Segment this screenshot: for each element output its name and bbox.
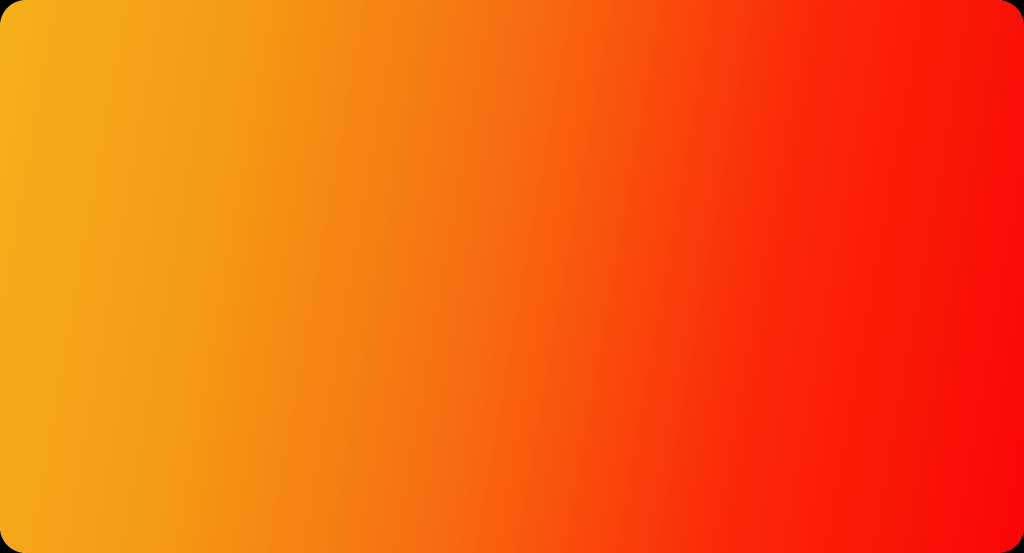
event-edition-label: AI EDITION: [62, 254, 393, 301]
title-line-1: CONGRESSO: [458, 170, 870, 212]
desc-underlined: uso estratégico de IA: [490, 362, 713, 389]
from-row: ➤ de: Gestor: [55, 363, 202, 395]
sold-label: VENDIDOS: [104, 529, 196, 549]
from-label: de:: [94, 373, 118, 393]
event-acronym: CNGT: [58, 166, 393, 250]
event-full-title: CONGRESSO NACIONAL DE GESTÃO DE TRÁFEGO.: [458, 170, 870, 297]
seats-stats-card: Vagas TOTAL 195/200 VENDIDOS: [0, 453, 330, 553]
cta-text: Restam apenas 5 Vagas: [368, 479, 771, 521]
date-location-badge: 1.11 NOV ALPHAVILLE - SP: [819, 0, 1003, 72]
gradient-divider: [22, 341, 1002, 343]
promo-banner: 1.11 NOV ALPHAVILLE - SP CNGT AI EDITION…: [0, 0, 1024, 553]
description-text: Imersão 100% focada no uso estratégico d…: [218, 360, 978, 427]
badge-date: 1.11 NOV: [834, 6, 989, 38]
seats-label: Vagas: [30, 488, 98, 516]
badge-location: ALPHAVILLE - SP: [834, 35, 988, 59]
to-row: ➤ para: Gestor.: [55, 395, 202, 427]
title-line-2: NACIONAL DE GESTÃO: [458, 212, 870, 254]
description-block: ➤ de: Gestor ➤ para: Gestor. Imersão 100…: [55, 360, 978, 427]
from-value: Gestor: [124, 363, 202, 395]
chevron-right-icon: ➤: [75, 372, 88, 391]
bottom-bar: Restam apenas 5 Vagas Vagas TOTAL 195/20…: [0, 453, 1024, 553]
audience-from-to: ➤ de: Gestor ➤ para: Gestor.: [55, 360, 202, 427]
title-line-3: DE TRÁFEGO.: [458, 254, 870, 296]
arrow-up-right-icon: [912, 483, 954, 525]
to-label: para:: [74, 405, 113, 425]
desc-before: Imersão 100% focada no: [218, 362, 490, 389]
event-logo-block: CNGT AI EDITION: [58, 166, 393, 301]
chevron-right-icon: ➤: [55, 404, 68, 423]
seats-count: 195/200: [100, 471, 274, 532]
to-value: Gestor.: [119, 395, 202, 427]
